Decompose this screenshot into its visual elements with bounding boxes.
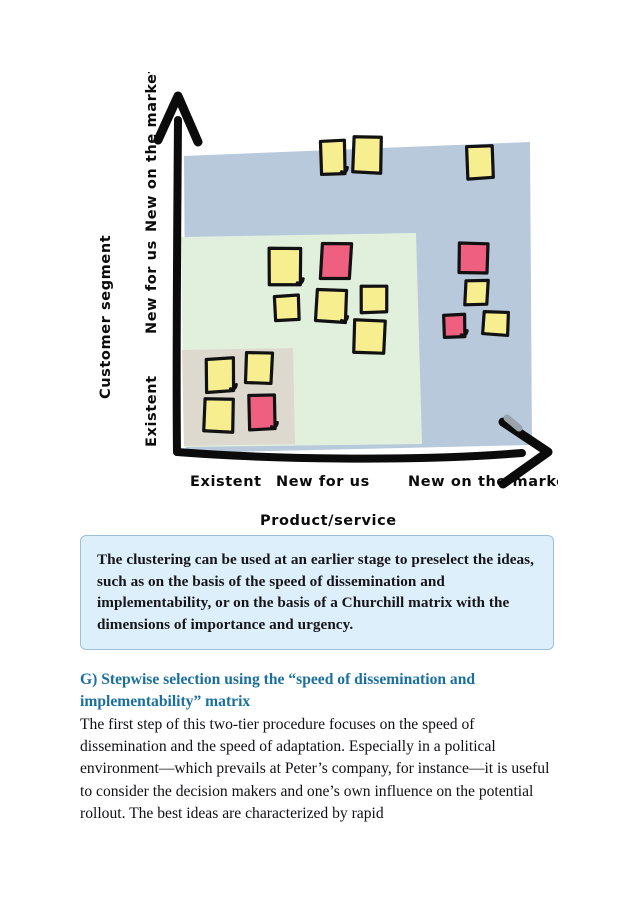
beige-region: [182, 348, 295, 446]
sticky-note: [483, 312, 509, 336]
document-page: Existent New for us New on the market Cu…: [0, 0, 636, 900]
sticky-note-shape: [320, 140, 345, 174]
section-heading: G) Stepwise selection using the “speed o…: [80, 669, 550, 713]
sticky-note: [204, 399, 234, 433]
sticky-note: [205, 358, 236, 393]
sticky-note-shape: [320, 243, 351, 280]
sticky-note: [274, 295, 299, 321]
sticky-note-shape: [248, 395, 275, 430]
matrix-chart-svg: Existent New for us New on the market Cu…: [78, 72, 558, 532]
sticky-note-shape: [483, 312, 509, 336]
sticky-note: [269, 248, 304, 286]
x-axis-line: [177, 452, 522, 459]
x-tick-new-for-us: New for us: [276, 474, 370, 490]
y-tick-new-on-the-market: New on the market: [144, 72, 160, 232]
sticky-note-shape: [315, 289, 346, 322]
y-axis-tick-labels: Existent New for us New on the market: [144, 72, 160, 447]
y-tick-new-for-us: New for us: [144, 240, 160, 334]
y-axis-line: [177, 120, 178, 452]
x-axis-title: Product/service: [260, 513, 397, 529]
matrix-figure: Existent New for us New on the market Cu…: [78, 72, 558, 532]
x-axis-tick-labels: Existent New for us New on the market: [190, 474, 558, 490]
sticky-note-shape: [466, 145, 494, 179]
sticky-note-shape: [204, 399, 234, 433]
body-paragraph: The first step of this two-tier procedur…: [80, 714, 556, 825]
callout-box: The clustering can be used at an earlier…: [80, 535, 554, 650]
x-tick-new-on-the-market: New on the market: [408, 474, 558, 490]
sticky-note: [465, 280, 488, 305]
y-axis-title: Customer segment: [98, 235, 114, 399]
sticky-note: [361, 286, 387, 313]
sticky-note-shape: [353, 137, 382, 173]
sticky-note-shape: [245, 352, 272, 383]
sticky-note: [354, 320, 386, 354]
sticky-note: [320, 243, 351, 280]
y-tick-existent: Existent: [144, 375, 160, 447]
sticky-note-shape: [361, 286, 387, 313]
sticky-note-shape: [465, 280, 488, 305]
sticky-note-shape: [274, 295, 299, 321]
sticky-note: [315, 289, 348, 322]
sticky-note: [320, 140, 347, 174]
sticky-note: [466, 145, 494, 179]
sticky-note-shape: [459, 243, 488, 273]
x-tick-existent: Existent: [190, 474, 262, 490]
sticky-note: [248, 394, 277, 429]
callout-text: The clustering can be used at an earlier…: [97, 549, 537, 635]
sticky-note-shape: [269, 248, 302, 286]
sticky-note-shape: [354, 320, 386, 354]
sticky-note: [245, 352, 272, 383]
sticky-note: [444, 314, 468, 337]
sticky-note: [459, 243, 488, 273]
sticky-note: [353, 137, 382, 173]
